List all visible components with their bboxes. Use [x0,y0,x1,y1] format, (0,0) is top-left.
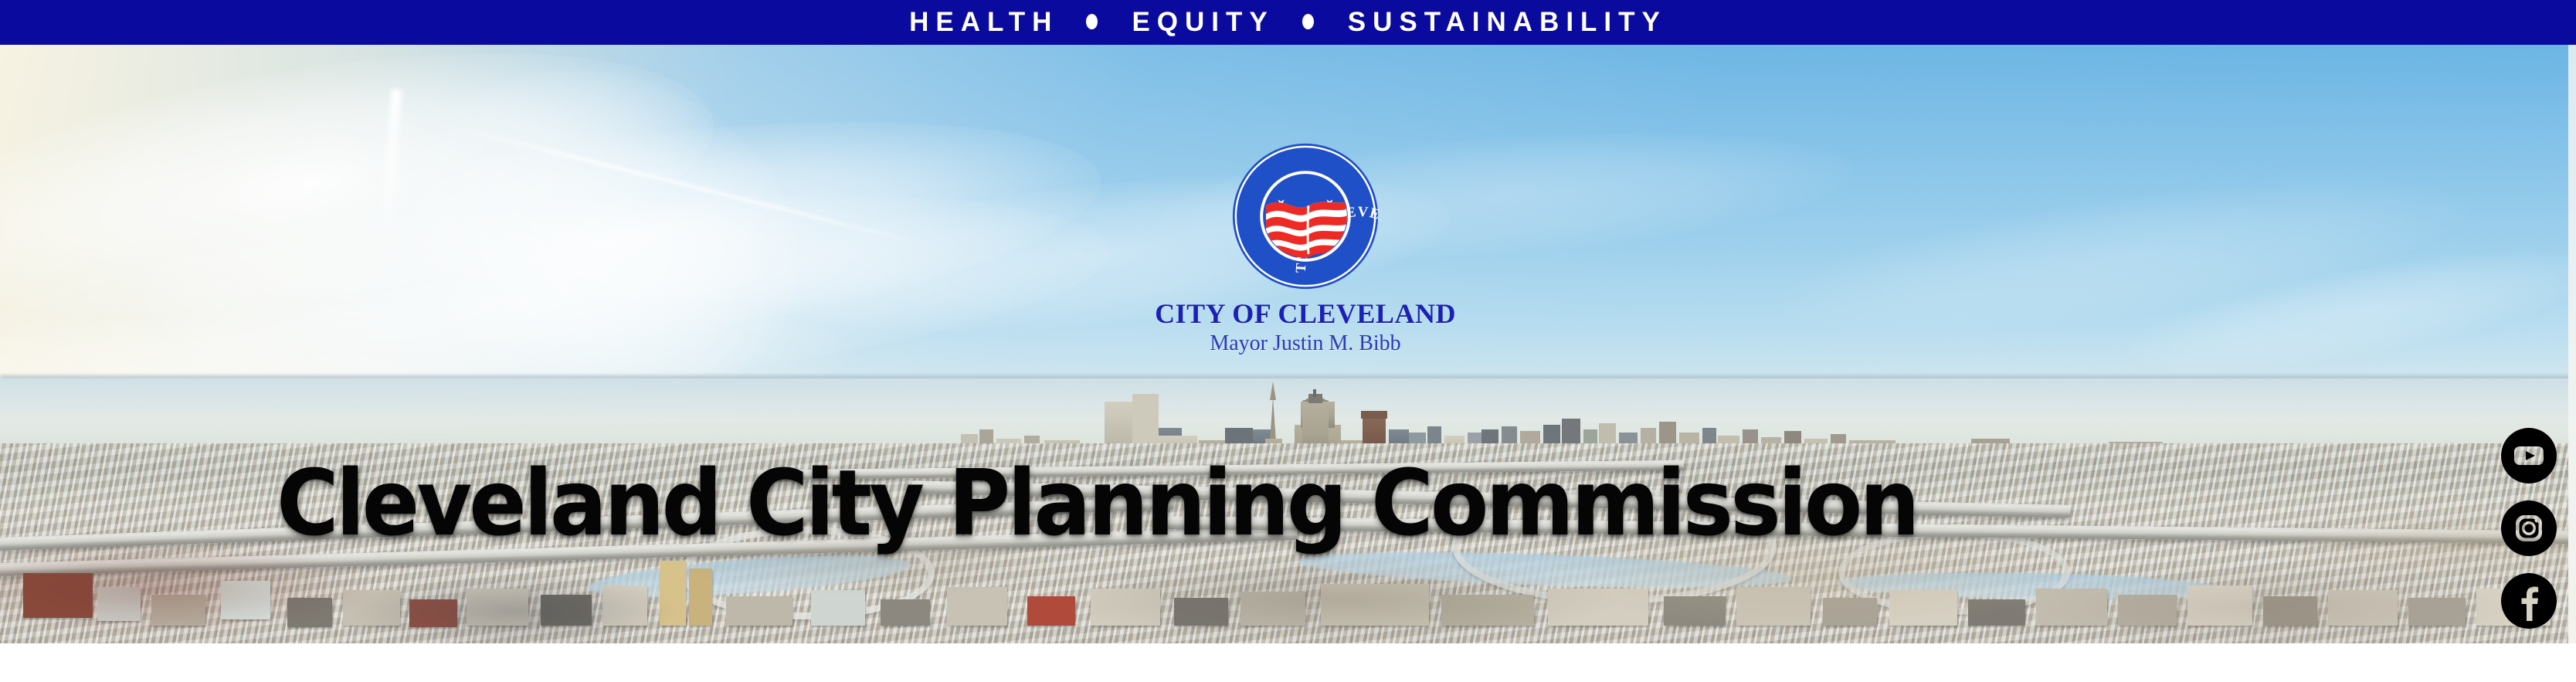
logo-city-name: CITY OF CLEVELAND [1151,300,1460,329]
rooftop [467,589,528,626]
lake-erie-band [0,378,2576,453]
rooftop [2118,595,2177,626]
rooftop [881,599,930,626]
church-tower [689,568,712,626]
tagline-word-equity: EQUITY [1132,8,1274,36]
youtube-link[interactable] [2501,428,2557,484]
rooftop [2328,590,2398,626]
rooftop [221,581,270,619]
rooftop [602,585,647,626]
church-tower [660,561,686,626]
icy-river [586,548,912,604]
right-edge-sliver [2568,45,2576,643]
rooftop [287,598,332,627]
rooftop [726,596,792,626]
rooftop [2036,589,2107,626]
rooftop [1968,599,2025,626]
rooftop [2187,585,2252,626]
rooftop [97,587,141,621]
rooftop [811,590,865,626]
industrial-shed [1441,595,1534,626]
rooftop [1889,590,1957,626]
rooftop [1091,589,1160,626]
instagram-icon [2501,500,2557,556]
tagline-word-sustainability: SUSTAINABILITY [1348,8,1667,36]
facebook-icon [2501,573,2557,629]
city-of-cleveland-seal-icon: CITY OF CLEVELAND OHIO [1230,141,1381,292]
icy-river [1838,570,2225,603]
rooftop [2408,598,2466,626]
rooftop [1174,598,1228,626]
logo-mayor-name: Mayor Justin M. Bibb [1151,332,1460,356]
rooftop [23,573,93,618]
page-root: HEALTH EQUITY SUSTAINABILITY [0,0,2576,682]
youtube-icon [2501,428,2557,484]
rooftop [1736,587,1811,626]
rooftop [409,599,457,627]
tagline-bullet-icon-2 [1302,14,1314,29]
rooftop [151,595,205,626]
rooftop [1823,598,1877,626]
tagline-bullet-icon-1 [1086,14,1098,29]
rooftop [1027,596,1075,626]
rooftop [2263,596,2317,626]
rooftop [947,587,1007,626]
page-title: Cleveland City Planning Commission [76,457,2116,548]
rooftop [343,590,400,626]
rooftop [541,595,592,626]
social-links-rail [2500,428,2557,629]
industrial-shed [1548,589,1648,626]
tagline-inner: HEALTH EQUITY SUSTAINABILITY [909,8,1667,36]
city-logo-block[interactable]: CITY OF CLEVELAND OHIO [1151,134,1460,356]
industrial-shed [1321,584,1429,626]
facebook-link[interactable] [2501,573,2557,629]
instagram-link[interactable] [2501,500,2557,556]
rooftop [1664,596,1726,626]
tagline-word-health: HEALTH [909,8,1058,36]
rooftop [1240,592,1305,626]
top-tagline-banner: HEALTH EQUITY SUSTAINABILITY [0,0,2576,45]
bottom-white-band [0,643,2576,682]
